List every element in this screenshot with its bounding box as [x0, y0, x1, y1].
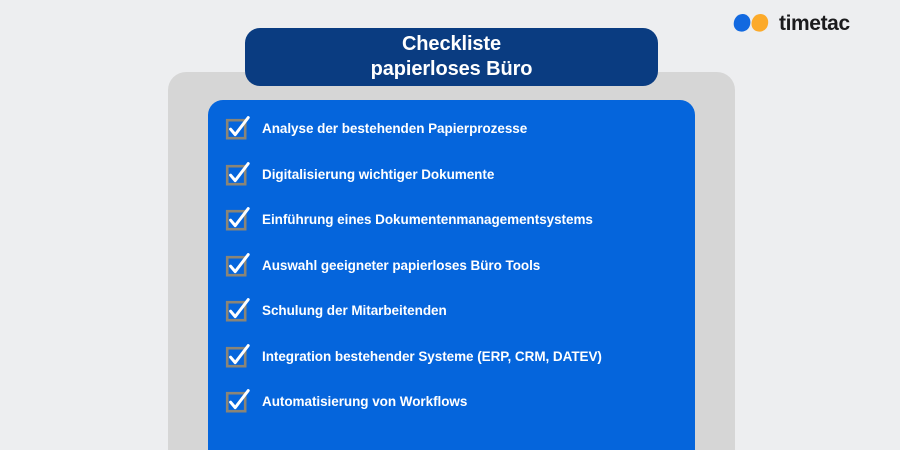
list-item[interactable]: Digitalisierung wichtiger Dokumente: [224, 162, 494, 188]
checkbox-checked-icon[interactable]: [224, 344, 250, 370]
list-item[interactable]: Automatisierung von Workflows: [224, 389, 467, 415]
page-title: Checkliste: [402, 32, 501, 57]
list-item-label: Schulung der Mitarbeitenden: [262, 304, 447, 318]
checkbox-checked-icon[interactable]: [224, 253, 250, 279]
timetac-dots-logo-icon: [733, 13, 770, 33]
list-item-label: Automatisierung von Workflows: [262, 395, 467, 409]
page-subtitle: papierloses Büro: [371, 57, 533, 82]
brand-logo: timetac: [733, 9, 850, 37]
list-item-label: Digitalisierung wichtiger Dokumente: [262, 168, 494, 182]
list-item-label: Einführung eines Dokumentenmanagementsys…: [262, 213, 593, 227]
list-item[interactable]: Integration bestehender Systeme (ERP, CR…: [224, 344, 602, 370]
list-item[interactable]: Analyse der bestehenden Papierprozesse: [224, 116, 527, 142]
checkbox-checked-icon[interactable]: [224, 298, 250, 324]
checklist-card: Analyse der bestehenden Papierprozesse D…: [208, 100, 695, 450]
list-item-label: Auswahl geeigneter papierloses Büro Tool…: [262, 259, 540, 273]
list-item-label: Integration bestehender Systeme (ERP, CR…: [262, 350, 602, 364]
checkbox-checked-icon[interactable]: [224, 207, 250, 233]
checkbox-checked-icon[interactable]: [224, 389, 250, 415]
infographic-canvas: timetac Analyse der bestehenden Papierpr…: [0, 0, 900, 450]
list-item[interactable]: Auswahl geeigneter papierloses Büro Tool…: [224, 253, 540, 279]
brand-wordmark: timetac: [779, 13, 850, 34]
checkbox-checked-icon[interactable]: [224, 116, 250, 142]
checkbox-checked-icon[interactable]: [224, 162, 250, 188]
list-item-label: Analyse der bestehenden Papierprozesse: [262, 122, 527, 136]
list-item[interactable]: Schulung der Mitarbeitenden: [224, 298, 447, 324]
list-item[interactable]: Einführung eines Dokumentenmanagementsys…: [224, 207, 593, 233]
title-banner: Checkliste papierloses Büro: [245, 28, 658, 86]
